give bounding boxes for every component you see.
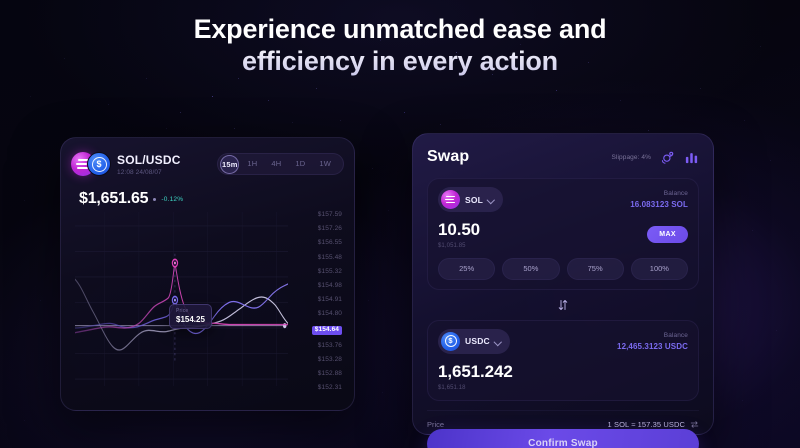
- timeframe-1d[interactable]: 1D: [289, 155, 311, 173]
- y-tick: $155.32: [318, 269, 342, 276]
- timeframe-4h[interactable]: 4H: [265, 155, 287, 173]
- token-select-to[interactable]: $ USDC: [438, 329, 510, 354]
- y-tick: $152.88: [318, 371, 342, 378]
- tooltip-label: Price: [176, 308, 205, 314]
- swap-header: Swap Slippage: 4%: [427, 146, 699, 168]
- y-tick: $152.31: [318, 385, 342, 392]
- y-tick: $155.48: [318, 255, 342, 262]
- swap-vertical-icon[interactable]: [553, 295, 573, 315]
- separator-dot: [153, 198, 156, 201]
- y-axis-labels: $157.59 $157.26 $156.55 $155.48 $155.32 …: [290, 212, 344, 392]
- usdc-logo-icon: $: [441, 332, 460, 351]
- swap-to-top: $ USDC Balance 12,465.3123 USDC: [438, 329, 688, 354]
- price-rate-value: 1 SOL ≈ 157.35 USDC: [608, 420, 685, 429]
- token-symbol-from: SOL: [465, 195, 483, 205]
- pair-icon-group: $: [71, 152, 111, 176]
- percent-25-button[interactable]: 25%: [438, 258, 495, 280]
- chart-svg: [75, 212, 288, 386]
- swap-panel: Swap Slippage: 4%: [412, 133, 714, 435]
- price-change-badge: -0.12%: [161, 196, 183, 203]
- confirm-swap-button[interactable]: Confirm Swap: [427, 429, 699, 448]
- balance-label: Balance: [617, 332, 688, 339]
- amount-usd-to: $1,651.18: [438, 385, 513, 391]
- chart-body: Price $154.25 $157.59 $157.26 $156.55 $1…: [71, 212, 344, 402]
- swap-from-top: SOL Balance 16.083123 SOL: [438, 187, 688, 212]
- swap-to-card: $ USDC Balance 12,465.3123 USDC 1,651.24…: [427, 320, 699, 401]
- max-button[interactable]: MAX: [647, 226, 688, 243]
- token-select-from[interactable]: SOL: [438, 187, 503, 212]
- timeframe-selector[interactable]: 15m 1H 4H 1D 1W: [217, 153, 344, 175]
- timeframe-1h[interactable]: 1H: [241, 155, 263, 173]
- settings-refresh-icon[interactable]: [660, 150, 675, 165]
- swap-to-amount-row: 1,651.242 $1,651.18: [438, 362, 688, 391]
- price-rate-group: 1 SOL ≈ 157.35 USDC: [608, 420, 699, 429]
- y-tick: $157.59: [318, 212, 342, 219]
- price-label: Price: [427, 420, 444, 429]
- amount-input-to[interactable]: 1,651.242: [438, 362, 513, 382]
- pair-name: SOL/USDC: [117, 153, 181, 167]
- solana-logo-icon: [441, 190, 460, 209]
- swap-direction-wrap: [427, 295, 699, 315]
- balance-label: Balance: [630, 190, 688, 197]
- timeframe-15m[interactable]: 15m: [220, 155, 239, 174]
- swap-from-amount-row: 10.50 $1,051.85 MAX: [438, 220, 688, 249]
- balance-from: Balance 16.083123 SOL: [630, 190, 688, 209]
- timeframe-1w[interactable]: 1W: [313, 155, 337, 173]
- swap-horizontal-icon[interactable]: [690, 420, 699, 429]
- usdc-logo-icon: $: [87, 152, 111, 176]
- price-chart-panel: $ SOL/USDC 12:08 24/08/07 15m 1H 4H 1D 1…: [60, 137, 355, 411]
- tooltip-value: $154.25: [176, 315, 205, 324]
- y-tick-current-price: $154.64: [312, 326, 342, 336]
- percent-75-button[interactable]: 75%: [567, 258, 624, 280]
- balance-to: Balance 12,465.3123 USDC: [617, 332, 688, 351]
- balance-value[interactable]: 12,465.3123 USDC: [617, 342, 688, 351]
- chart-tooltip: Price $154.25: [169, 304, 212, 329]
- amount-input-from[interactable]: 10.50: [438, 220, 480, 240]
- pair-timestamp: 12:08 24/08/07: [117, 169, 181, 176]
- chart-plot-area[interactable]: [75, 212, 288, 386]
- amount-from-group: 10.50 $1,051.85: [438, 220, 480, 249]
- swap-title: Swap: [427, 148, 469, 166]
- slippage-label: Slippage: 4%: [611, 154, 651, 161]
- y-tick: $156.55: [318, 240, 342, 247]
- swap-header-actions: Slippage: 4%: [611, 150, 699, 165]
- current-price-block: $1,651.65 -0.12%: [79, 190, 344, 208]
- chevron-down-icon: [495, 338, 502, 345]
- pair-info: SOL/USDC 12:08 24/08/07: [117, 153, 181, 176]
- token-symbol-to: USDC: [465, 336, 490, 346]
- amount-usd-from: $1,051.85: [438, 243, 480, 249]
- y-tick: $157.26: [318, 226, 342, 233]
- y-tick: $154.80: [318, 311, 342, 318]
- price-row: Price 1 SOL ≈ 157.35 USDC: [427, 410, 699, 429]
- chart-header: $ SOL/USDC 12:08 24/08/07 15m 1H 4H 1D 1…: [71, 148, 344, 180]
- page-title: Experience unmatched ease and efficiency…: [0, 14, 800, 78]
- percent-50-button[interactable]: 50%: [502, 258, 559, 280]
- y-tick: $154.98: [318, 283, 342, 290]
- percent-buttons: 25% 50% 75% 100%: [438, 258, 688, 280]
- y-tick: $153.28: [318, 357, 342, 364]
- grid-vertical: [104, 212, 276, 386]
- swap-from-card: SOL Balance 16.083123 SOL 10.50 $1,051.8…: [427, 178, 699, 290]
- grid-horizontal: [75, 226, 288, 379]
- bar-chart-icon[interactable]: [684, 150, 699, 165]
- y-tick: $153.76: [318, 343, 342, 350]
- current-price: $1,651.65: [79, 190, 148, 208]
- y-tick: $154.91: [318, 297, 342, 304]
- balance-value[interactable]: 16.083123 SOL: [630, 200, 688, 209]
- chevron-down-icon: [488, 196, 495, 203]
- amount-to-group: 1,651.242 $1,651.18: [438, 362, 513, 391]
- percent-100-button[interactable]: 100%: [631, 258, 688, 280]
